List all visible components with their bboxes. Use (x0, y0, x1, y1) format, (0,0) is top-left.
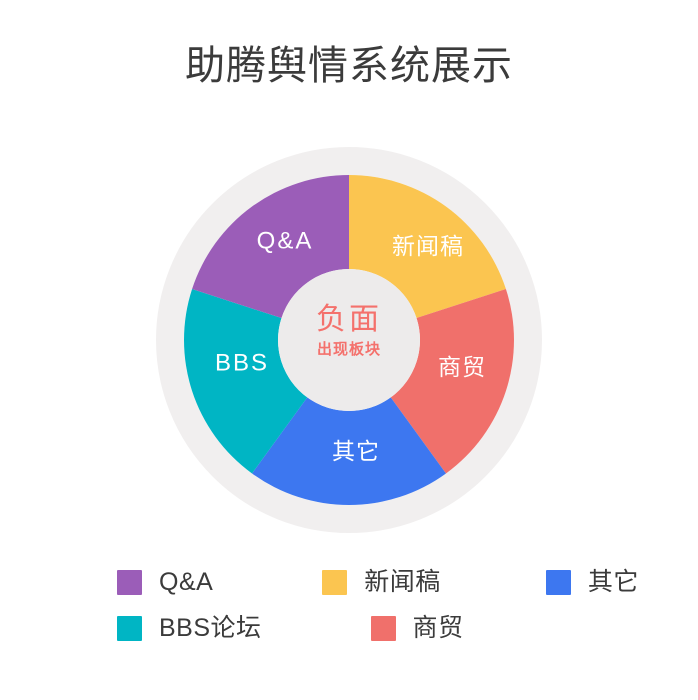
legend-swatch-icon (322, 570, 347, 595)
slice-label-qa: Q&A (257, 227, 314, 254)
chart-legend: Q&A 新闻稿 其它 BBS论坛 商贸 (0, 565, 698, 657)
legend-swatch-icon (117, 570, 142, 595)
legend-swatch-icon (546, 570, 571, 595)
page-title: 助腾舆情系统展示 (0, 42, 698, 90)
legend-item-bbs[interactable]: BBS论坛 (117, 611, 262, 645)
legend-label: 商贸 (413, 613, 464, 643)
legend-item-other[interactable]: 其它 (546, 565, 639, 599)
legend-item-qa[interactable]: Q&A (117, 565, 213, 599)
legend-label: 新闻稿 (364, 567, 441, 597)
donut-center-hub (278, 269, 420, 411)
slice-label-other: 其它 (332, 438, 380, 464)
slice-label-news: 新闻稿 (392, 233, 464, 259)
legend-item-trade[interactable]: 商贸 (371, 611, 464, 645)
legend-swatch-icon (371, 616, 396, 641)
legend-row: Q&A 新闻稿 其它 (0, 565, 698, 611)
slice-label-bbs: BBS (215, 349, 269, 376)
legend-swatch-icon (117, 616, 142, 641)
legend-item-news[interactable]: 新闻稿 (322, 565, 441, 599)
legend-label: Q&A (159, 567, 213, 597)
slice-label-trade: 商贸 (438, 354, 486, 380)
legend-label: 其它 (588, 567, 639, 597)
donut-chart-svg: 新闻稿 商贸 其它 BBS Q&A (149, 140, 549, 540)
legend-label: BBS论坛 (159, 613, 262, 643)
legend-row: BBS论坛 商贸 (0, 611, 698, 657)
